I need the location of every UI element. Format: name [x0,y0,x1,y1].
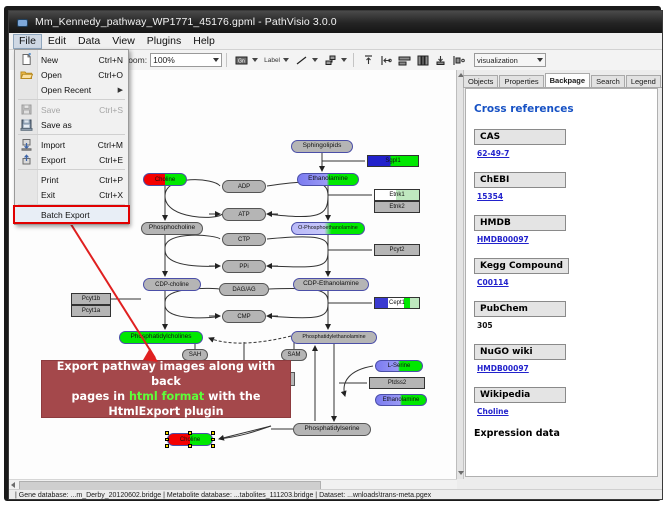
menu-item-label: New [37,55,99,65]
scroll-left-icon[interactable] [11,482,15,488]
menu-item-accelerator: Ctrl+X [99,190,128,200]
menu-bar[interactable]: File Edit Data View Plugins Help [9,33,662,50]
pathway-node-label: Choline [155,177,175,183]
pathway-node-label: Phosphocholine [149,225,195,232]
annotation-callout: Export pathway images along with back pa… [41,360,291,418]
pathway-node[interactable]: PPi [222,260,266,273]
save-disk-icon [15,102,37,117]
selection-handle[interactable] [188,444,192,448]
common-width-icon[interactable] [451,53,466,68]
backpage-content[interactable]: Cross references CAS62-49-7ChEBI15354HMD… [465,88,658,477]
pathway-node-label: Phosphatidylethanolamine [302,335,365,340]
screenshot-root: Mm_Kennedy_pathway_WP1771_45176.gpml - P… [0,0,670,509]
distribute-vertical-icon[interactable] [415,53,430,68]
cross-reference-link[interactable]: 62-49-7 [477,149,657,158]
menu-item-accelerator: Ctrl+E [99,155,128,165]
cross-reference-link[interactable]: HMDB00097 [477,364,657,373]
datanode-dropdown-icon[interactable] [252,58,258,62]
line-dropdown-icon[interactable] [312,58,318,62]
stack-center-icon[interactable] [433,53,448,68]
cross-reference-entry: CAS62-49-7 [474,126,657,158]
pathway-node[interactable]: Phosphocholine [141,222,203,235]
pathway-node-label: Choline [180,437,200,443]
cross-reference-name: Wikipedia [474,387,566,403]
pathway-node[interactable]: Etnk2 [374,201,420,213]
splitter-collapse-down-icon[interactable] [458,471,464,475]
menu-item-exit[interactable]: ExitCtrl+X [15,187,128,202]
cross-reference-name: ChEBI [474,172,566,188]
cross-reference-name: PubChem [474,301,566,317]
pathway-node-label: Sphingolipids [303,143,342,150]
selection-handle[interactable] [188,431,192,435]
status-text: | Gene database: ...m_Derby_20120602.bri… [15,492,431,499]
toolbar-separator [226,53,227,67]
pathway-node-label: CTP [238,237,250,243]
new-document-icon [15,52,37,67]
pathway-node-label: Etnk2 [389,204,404,210]
menu-separator [18,99,125,100]
pathway-node-label: Pcyt2 [389,247,404,253]
cross-reference-entry: NuGO wikiHMDB00097 [474,341,657,373]
pathway-node[interactable]: DAG/AG [219,283,269,296]
pathway-node-label: Etnk1 [389,192,404,198]
pathway-node-label: ATP [238,212,249,218]
menu-edit[interactable]: Edit [42,34,72,49]
annotation-line1: Export pathway images along with back [57,360,276,388]
line-tool-icon[interactable] [294,53,309,68]
expression-data-title: Expression data [474,428,657,439]
cross-reference-link[interactable]: Choline [477,407,657,416]
pathway-node[interactable]: Phosphatidylcholines [119,331,203,344]
distribute-horizontal-icon[interactable] [397,53,412,68]
tab-backpage[interactable]: Backpage [545,73,590,88]
label-dropdown-icon[interactable] [283,58,289,62]
selection-handle[interactable] [165,444,169,448]
title-bar: Mm_Kennedy_pathway_WP1771_45176.gpml - P… [9,11,662,33]
menu-item-import[interactable]: ImportCtrl+M [15,137,128,152]
pathway-node-label: CDP-Ethanolamine [303,281,359,288]
pathway-node-label: Ethanolamine [308,176,348,183]
pathway-node[interactable]: Choline [143,173,187,186]
menu-item-batch-export[interactable]: Batch Export [15,207,128,222]
pathway-node[interactable]: Ptdss2 [369,377,425,389]
annotation-highlight: html format [129,390,204,403]
pathway-node[interactable]: Pcyt1a [71,305,111,317]
selection-handle[interactable] [211,444,215,448]
pathway-node[interactable]: CDP-Ethanolamine [293,278,369,291]
menu-item-label: Save [37,105,99,115]
cross-reference-entry: Kegg CompoundC00114 [474,255,657,287]
interaction-dropdown-icon[interactable] [341,58,347,62]
chevron-down-icon [213,58,219,62]
pathway-node[interactable]: Sgpl1 [367,155,419,167]
menu-item-label: Open [37,70,98,80]
menu-plugins[interactable]: Plugins [141,34,187,49]
menu-file[interactable]: File [13,34,42,49]
cross-reference-entry: HMDBHMDB00097 [474,212,657,244]
pathway-node-label: O-Phosphoethanolamine [298,226,358,231]
annotation-text: Export pathway images along with back pa… [48,359,284,419]
pathway-node-label: Ethanolamine [383,397,420,403]
menu-item-accelerator: Ctrl+N [99,55,128,65]
status-bar: | Gene database: ...m_Derby_20120602.bri… [9,489,662,500]
toolbar-separator-2 [353,53,354,67]
pathway-node[interactable]: ADP [222,180,266,193]
cross-reference-link[interactable]: 15354 [477,192,657,201]
pathway-node-label: Sgpl1 [385,158,400,164]
cross-references-title: Cross references [474,103,657,115]
cross-reference-link[interactable]: C00114 [477,278,657,287]
menu-item-label: Save as [37,120,123,130]
pathway-node[interactable]: Ethanolamine [375,394,427,406]
menu-item-label: Import [37,140,98,150]
menu-item-save-as[interactable]: Save as [15,117,128,132]
window-title: Mm_Kennedy_pathway_WP1771_45176.gpml - P… [35,16,337,28]
cross-reference-name: CAS [474,129,566,145]
menu-view[interactable]: View [106,34,141,49]
cross-reference-value: 305 [477,321,657,330]
import-icon [15,137,37,152]
pathway-node[interactable]: CMP [222,310,266,323]
cross-reference-link[interactable]: HMDB00097 [477,235,657,244]
menu-item-export[interactable]: ExportCtrl+E [15,152,128,167]
cross-reference-list: CAS62-49-7ChEBI15354HMDBHMDB00097Kegg Co… [466,126,657,416]
menu-no-icon [15,187,37,202]
menu-no-icon [15,172,37,187]
pathway-node[interactable]: CDP-choline [143,278,201,291]
pathway-node[interactable]: Pcyt2 [374,244,420,256]
menu-item-accelerator: Ctrl+S [99,105,128,115]
panel-splitter[interactable] [457,70,464,479]
menu-item-save: SaveCtrl+S [15,102,128,117]
pathway-node-label: DAG/AG [232,287,255,293]
menu-item-open-recent[interactable]: Open Recent▶ [15,82,128,97]
menu-item-accelerator: Ctrl+M [98,140,128,150]
menu-separator [18,134,125,135]
pathway-node-label: Ptdss2 [388,380,406,386]
label-tool-label[interactable]: Label [264,57,280,64]
pathvisio-window: Mm_Kennedy_pathway_WP1771_45176.gpml - P… [8,10,663,500]
pathway-node[interactable]: Etnk1 [374,189,420,201]
cross-reference-name: HMDB [474,215,566,231]
selection-handle[interactable] [165,438,169,442]
pathway-node-label: SAH [189,352,201,358]
align-left-icon[interactable] [379,53,394,68]
cross-reference-entry: WikipediaCholine [474,384,657,416]
menu-no-icon [15,207,37,222]
pathway-node[interactable]: Pcyt1b [71,293,111,305]
interaction-tool-icon[interactable] [323,53,338,68]
menu-no-icon [15,82,37,97]
align-top-icon[interactable] [361,53,376,68]
pathway-node[interactable]: Sphingolipids [291,140,353,153]
zoom-combobox[interactable]: 100% [150,53,222,67]
menu-item-label: Batch Export [37,210,123,220]
menu-item-label: Exit [37,190,99,200]
visualization-value: visualization [477,56,518,65]
menu-item-new[interactable]: NewCtrl+N [15,52,128,67]
selection-handle[interactable] [165,431,169,435]
export-icon [15,152,37,167]
pathway-node-label: CMP [237,314,250,320]
datanode-tool-icon[interactable]: Gn [234,53,249,68]
annotation-line2-post: with the [204,390,260,403]
side-panel-tabs[interactable]: Objects Properties Backpage Search Legen… [463,73,662,88]
svg-text:Gn: Gn [238,58,245,64]
pathvisio-icon [15,15,29,29]
cross-reference-entry: ChEBI15354 [474,169,657,201]
menu-item-label: Export [37,155,99,165]
annotation-line2-pre: pages in [72,390,129,403]
pathway-node[interactable]: Phosphatidylethanolamine [291,331,377,344]
selection-handle[interactable] [211,438,215,442]
pathway-node-label: L-Serine [388,363,411,369]
menu-item-label: Print [37,175,99,185]
file-menu-dropdown[interactable]: NewCtrl+NOpenCtrl+OOpen Recent▶SaveCtrl+… [14,49,129,225]
pathway-node-label: Phosphatidylserine [305,426,360,433]
side-panel: Objects Properties Backpage Search Legen… [457,70,662,479]
menu-data[interactable]: Data [72,34,106,49]
pathway-node-label: Pcyt1a [82,308,100,314]
pathway-node-label: ADP [238,184,250,190]
pathway-node-label: Pcyt1b [82,296,100,302]
menu-separator [18,204,125,205]
pathway-node[interactable]: Phosphatidylserine [293,423,371,436]
chevron-down-icon-2 [537,58,543,62]
zoom-value: 100% [153,55,175,65]
folder-open-icon [15,67,37,82]
selection-handle[interactable] [211,431,215,435]
cross-reference-name: NuGO wiki [474,344,566,360]
menu-separator [18,169,125,170]
menu-item-accelerator: Ctrl+P [99,175,128,185]
pathway-node-label: Cept1 [389,300,405,306]
pathway-node-label: PPi [239,264,248,270]
menu-item-print[interactable]: PrintCtrl+P [15,172,128,187]
pathway-node[interactable]: Ethanolamine [297,173,359,186]
menu-help[interactable]: Help [187,34,221,49]
pathway-node[interactable]: Cept1 [374,297,420,309]
pathway-node-label: Phosphatidylcholines [130,334,191,341]
file-menu-items: NewCtrl+NOpenCtrl+OOpen Recent▶SaveCtrl+… [15,52,128,222]
pathway-node[interactable]: L-Serine [375,360,423,372]
submenu-arrow-icon: ▶ [118,86,128,94]
pathway-node[interactable]: CTP [222,233,266,246]
menu-item-accelerator: Ctrl+O [98,70,128,80]
pathway-node-label: CDP-choline [155,282,189,288]
save-as-icon [15,117,37,132]
annotation-line3: HtmlExport plugin [108,405,223,418]
pathway-node[interactable]: O-Phosphoethanolamine [291,222,365,235]
visualization-combobox[interactable]: visualization [474,53,546,67]
menu-item-open[interactable]: OpenCtrl+O [15,67,128,82]
menu-item-label: Open Recent [37,85,118,95]
cross-reference-entry: PubChem305 [474,298,657,330]
pathway-node[interactable]: ATP [222,208,266,221]
cross-reference-name: Kegg Compound [474,258,569,274]
pathway-node-label: SAM [287,352,300,358]
